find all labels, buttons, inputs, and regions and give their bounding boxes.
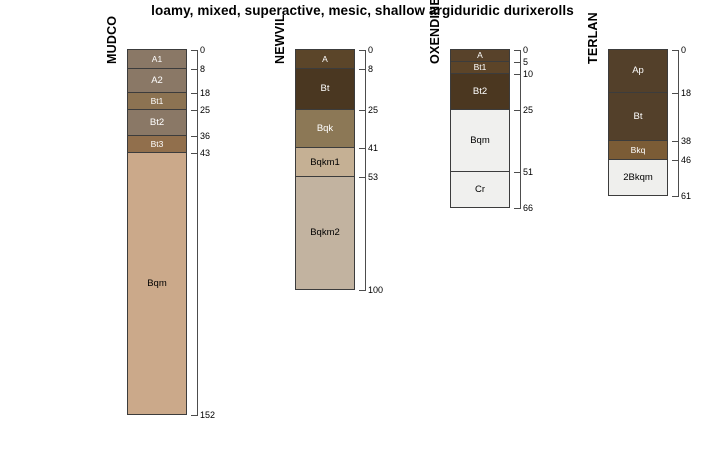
horizon-label: Bt3: [151, 140, 164, 149]
horizon-label: Ap: [632, 66, 644, 76]
horizon-label: Bt1: [474, 63, 487, 72]
horizon-label: Bt: [321, 84, 330, 94]
depth-tick: [359, 148, 366, 149]
depth-tick: [359, 110, 366, 111]
horizon-bqk[interactable]: Bqk: [295, 109, 355, 148]
horizon-label: Bqk: [317, 124, 333, 134]
depth-tick: [191, 93, 198, 94]
profile-name-label: NEWVIL: [273, 14, 287, 64]
horizon-label: Bkq: [631, 146, 646, 155]
depth-tick-label: 0: [368, 46, 373, 55]
horizon-label: Bt2: [150, 118, 164, 128]
horizon-label: A2: [151, 76, 163, 86]
depth-tick-label: 100: [368, 286, 383, 295]
depth-axis-line: [678, 50, 679, 196]
depth-axis-line: [197, 50, 198, 415]
depth-tick: [191, 153, 198, 154]
profile-column: ABt1Bt2BqmCr: [450, 50, 510, 208]
horizon-bqm[interactable]: Bqm: [127, 152, 187, 415]
horizon-bt[interactable]: Bt: [608, 92, 668, 141]
depth-tick: [191, 415, 198, 416]
horizon-bt3[interactable]: Bt3: [127, 135, 187, 153]
depth-tick-label: 25: [368, 106, 378, 115]
profile-column: ApBtBkq2Bkqm: [608, 50, 668, 196]
horizon-bt2[interactable]: Bt2: [127, 109, 187, 136]
depth-tick: [359, 50, 366, 51]
depth-tick: [359, 290, 366, 291]
depth-tick-label: 5: [523, 58, 528, 67]
depth-tick-label: 41: [368, 144, 378, 153]
depth-tick-label: 36: [200, 132, 210, 141]
depth-tick: [514, 62, 521, 63]
horizon-label: Bqkm2: [310, 228, 340, 238]
depth-tick-label: 18: [681, 89, 691, 98]
horizon-bt1[interactable]: Bt1: [127, 92, 187, 110]
depth-axis-line: [365, 50, 366, 290]
depth-tick: [672, 50, 679, 51]
horizon-a[interactable]: A: [295, 49, 355, 69]
horizon-a1[interactable]: A1: [127, 49, 187, 69]
depth-tick-label: 38: [681, 137, 691, 146]
horizon-a2[interactable]: A2: [127, 68, 187, 93]
profile-column: A1A2Bt1Bt2Bt3Bqm: [127, 50, 187, 415]
depth-tick: [672, 160, 679, 161]
horizon-cr[interactable]: Cr: [450, 171, 510, 208]
depth-tick: [514, 74, 521, 75]
depth-tick: [191, 136, 198, 137]
depth-tick: [514, 208, 521, 209]
horizon-label: 2Bkqm: [623, 173, 653, 183]
depth-tick: [514, 172, 521, 173]
horizon-bt2[interactable]: Bt2: [450, 73, 510, 110]
depth-tick-label: 10: [523, 70, 533, 79]
horizon-label: Bt1: [151, 97, 164, 106]
horizon-bqkm1[interactable]: Bqkm1: [295, 147, 355, 177]
profile-column: ABtBqkBqkm1Bqkm2: [295, 50, 355, 290]
horizon-bkq[interactable]: Bkq: [608, 140, 668, 160]
profile-name-label: MUDCO: [105, 16, 119, 64]
depth-tick-label: 51: [523, 168, 533, 177]
depth-tick-label: 0: [523, 46, 528, 55]
depth-tick-label: 43: [200, 149, 210, 158]
horizon-label: Bqm: [470, 136, 490, 146]
depth-tick: [672, 196, 679, 197]
depth-tick: [514, 50, 521, 51]
horizon-label: Bt2: [473, 87, 487, 97]
horizon-label: A: [477, 51, 483, 60]
depth-tick-label: 152: [200, 411, 215, 420]
depth-tick-label: 8: [368, 65, 373, 74]
depth-tick-label: 0: [681, 46, 686, 55]
horizon-2bkqm[interactable]: 2Bkqm: [608, 159, 668, 196]
depth-tick: [191, 69, 198, 70]
depth-tick: [672, 93, 679, 94]
horizon-label: A1: [152, 55, 162, 64]
horizon-label: Bqm: [147, 279, 167, 289]
depth-tick: [514, 110, 521, 111]
depth-tick-label: 25: [200, 106, 210, 115]
profile-name-label: OXENDINE: [428, 0, 442, 64]
depth-tick: [191, 50, 198, 51]
depth-tick-label: 66: [523, 204, 533, 213]
horizon-bt[interactable]: Bt: [295, 68, 355, 110]
depth-tick-label: 25: [523, 106, 533, 115]
depth-tick-label: 53: [368, 173, 378, 182]
horizon-label: Bqkm1: [310, 158, 340, 168]
depth-tick: [191, 110, 198, 111]
horizon-label: Cr: [475, 185, 485, 195]
depth-tick: [359, 69, 366, 70]
depth-tick-label: 61: [681, 192, 691, 201]
horizon-label: Bt: [634, 112, 643, 122]
depth-tick-label: 0: [200, 46, 205, 55]
horizon-bqkm2[interactable]: Bqkm2: [295, 176, 355, 290]
profile-name-label: TERLAN: [586, 12, 600, 64]
depth-tick-label: 18: [200, 89, 210, 98]
depth-tick-label: 46: [681, 156, 691, 165]
depth-tick: [672, 141, 679, 142]
horizon-label: A: [322, 55, 328, 64]
depth-tick-label: 8: [200, 65, 205, 74]
horizon-ap[interactable]: Ap: [608, 49, 668, 93]
horizon-bqm[interactable]: Bqm: [450, 109, 510, 172]
depth-tick: [359, 177, 366, 178]
